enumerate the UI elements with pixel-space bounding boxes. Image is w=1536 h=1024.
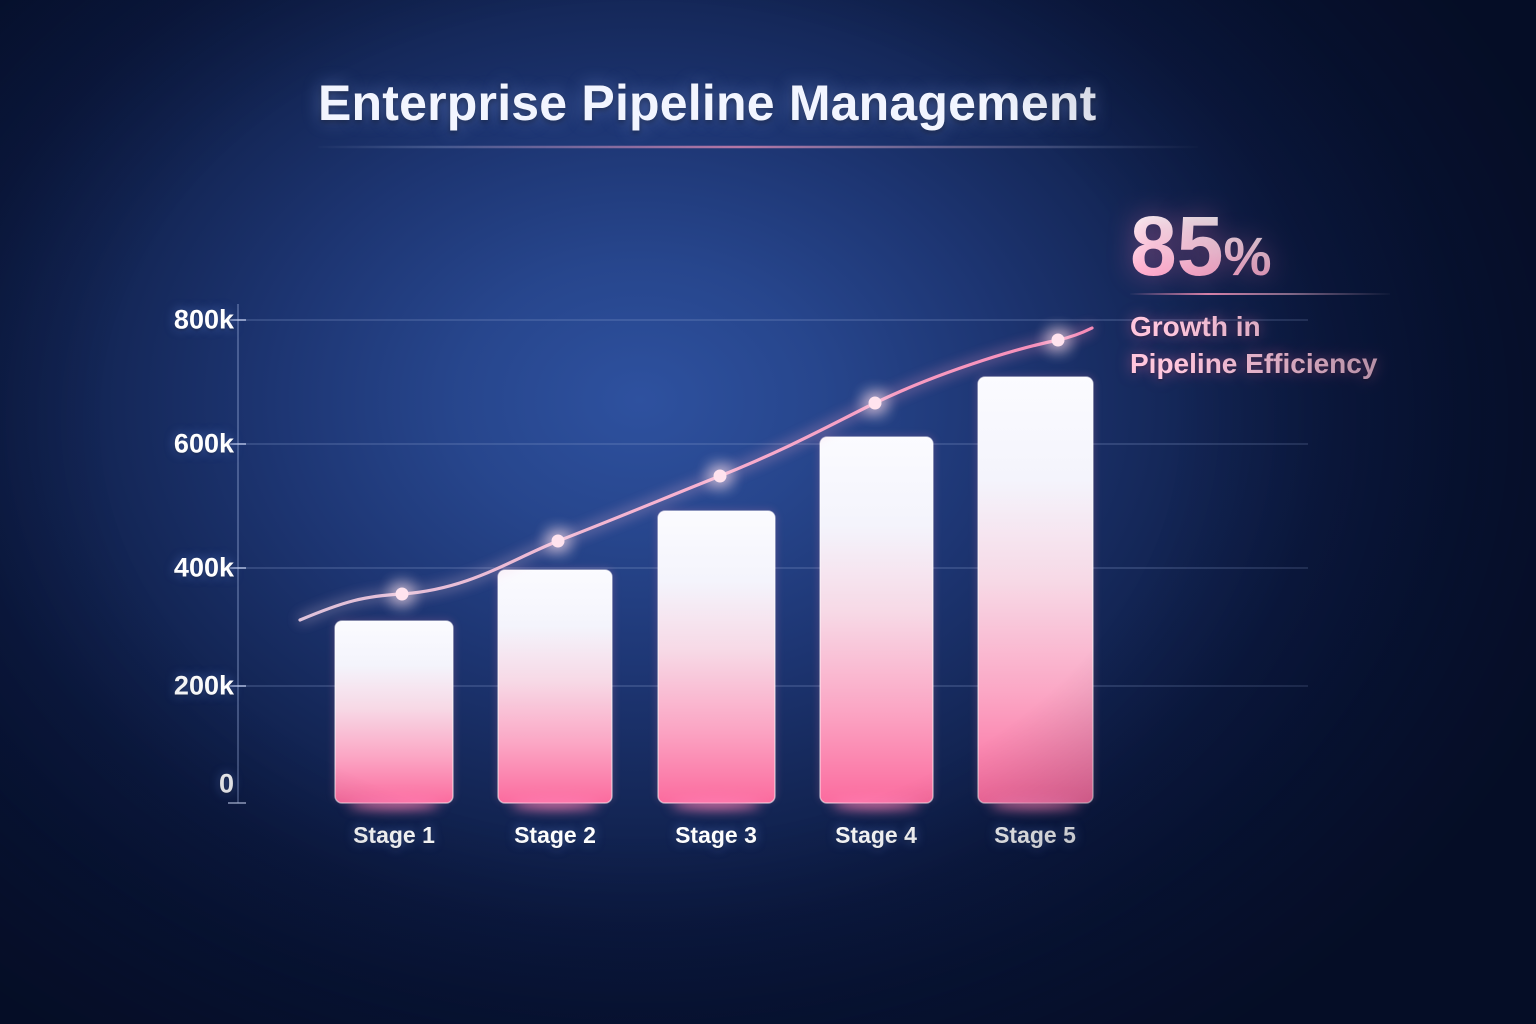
kpi-label-line-2: Pipeline Efficiency: [1130, 346, 1450, 383]
x-tick-stage-2: Stage 2: [514, 822, 596, 849]
bar-stage-3[interactable]: [658, 511, 775, 803]
trend-point-stage-1[interactable]: [396, 588, 409, 601]
bar-stage-1[interactable]: [335, 621, 453, 803]
y-tick-800k: 800k: [174, 305, 234, 336]
kpi-callout: 85% Growth in Pipeline Efficiency: [1130, 205, 1450, 383]
x-tick-stage-4: Stage 4: [835, 822, 917, 849]
kpi-label: Growth in Pipeline Efficiency: [1130, 309, 1450, 383]
y-axis-labels: 800k 600k 400k 200k 0: [90, 0, 234, 1024]
bar-stage-2[interactable]: [498, 570, 612, 803]
x-tick-stage-3: Stage 3: [675, 822, 757, 849]
kpi-value: 85%: [1130, 205, 1450, 287]
y-tick-0: 0: [219, 769, 234, 800]
kpi-number: 85: [1130, 199, 1223, 293]
trend-point-stage-2[interactable]: [552, 535, 565, 548]
y-tick-200k: 200k: [174, 671, 234, 702]
x-tick-stage-1: Stage 1: [353, 822, 435, 849]
bar-stage-5[interactable]: [978, 377, 1093, 803]
trend-point-stage-4[interactable]: [869, 397, 882, 410]
bar-series: [335, 377, 1093, 803]
trend-point-stage-3[interactable]: [714, 470, 727, 483]
kpi-label-line-1: Growth in: [1130, 309, 1450, 346]
chart-canvas: Enterprise Pipeline Management: [0, 0, 1536, 1024]
kpi-percent-sign: %: [1223, 227, 1271, 287]
kpi-divider: [1130, 293, 1390, 295]
x-tick-stage-5: Stage 5: [994, 822, 1076, 849]
bar-stage-4[interactable]: [820, 437, 933, 803]
trend-point-stage-5[interactable]: [1052, 334, 1065, 347]
y-tick-600k: 600k: [174, 429, 234, 460]
y-tick-400k: 400k: [174, 553, 234, 584]
